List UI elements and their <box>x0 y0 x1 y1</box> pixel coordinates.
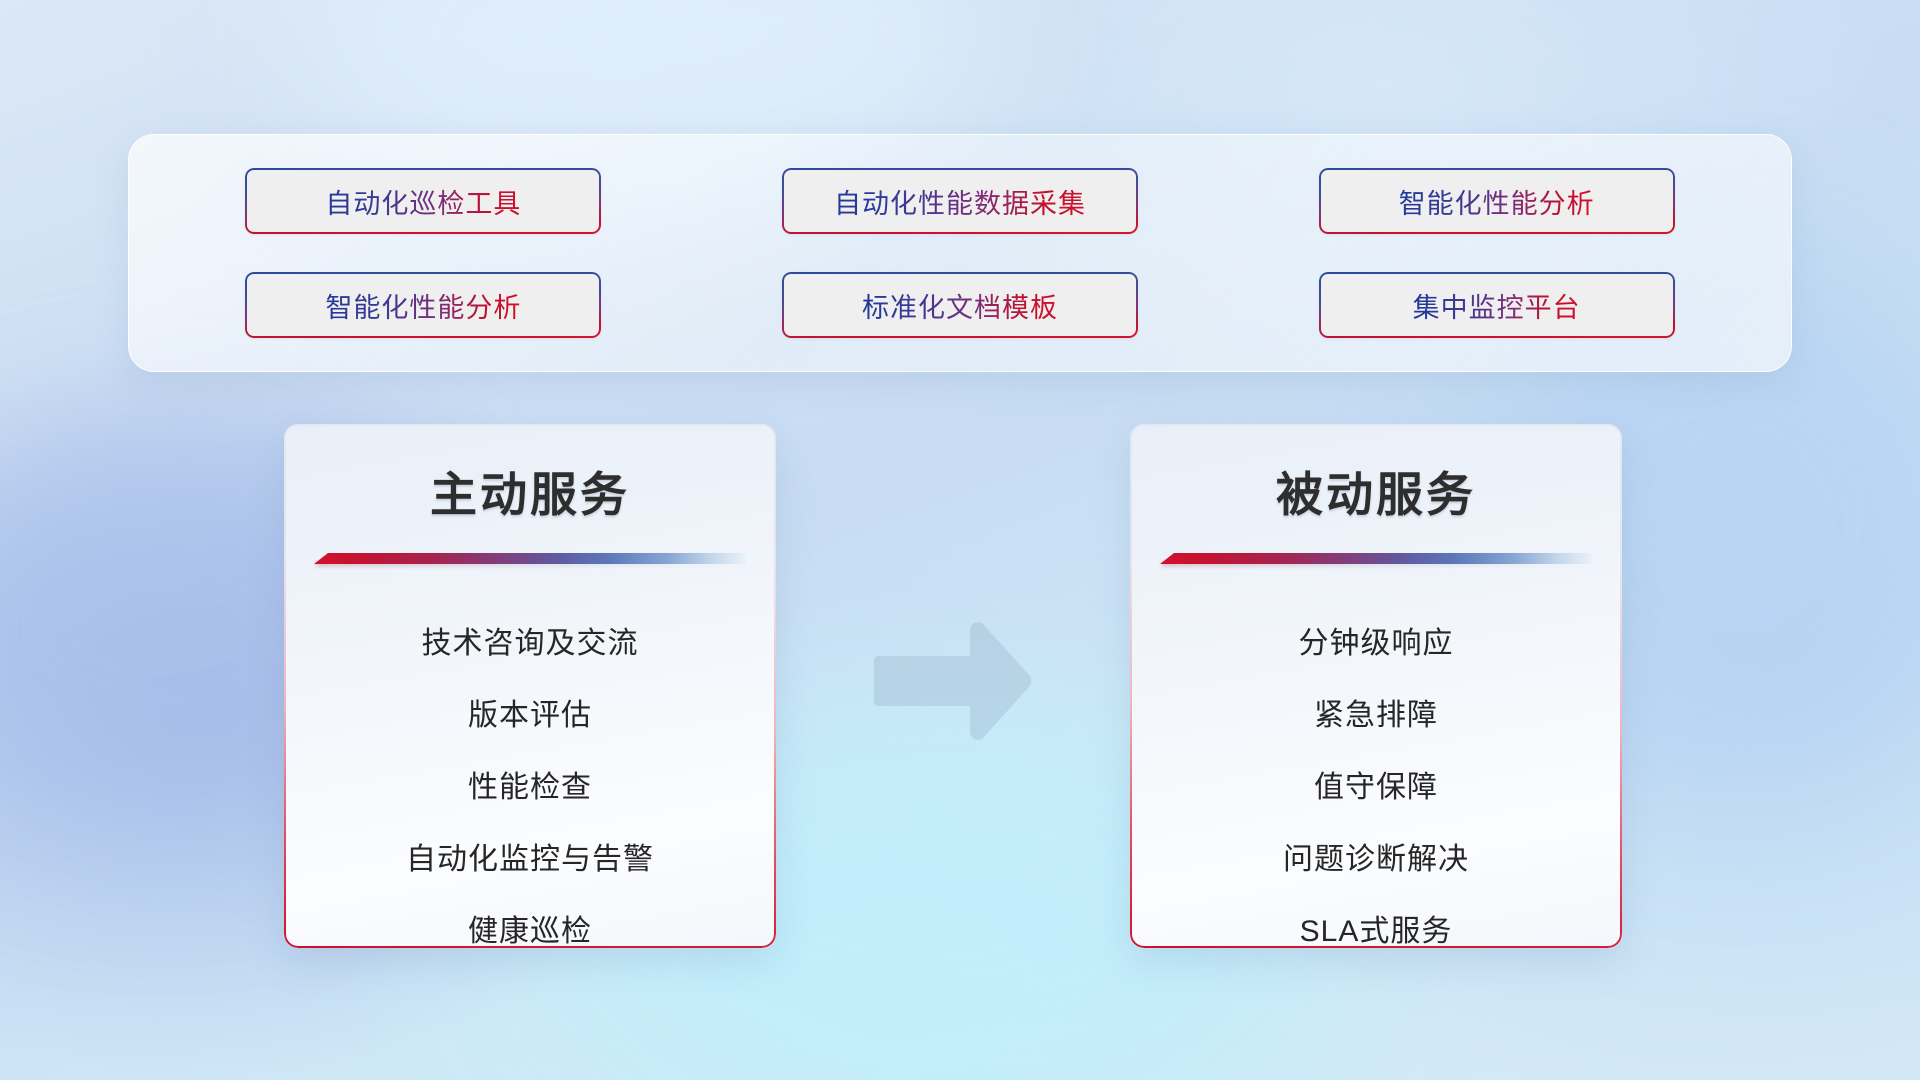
list-item[interactable]: 值守保障 <box>1130 752 1622 824</box>
capability-pill-5[interactable]: 标准化文档模板 <box>782 272 1138 338</box>
list-item[interactable]: 技术咨询及交流 <box>284 608 776 680</box>
card-divider-bar <box>1160 553 1592 564</box>
capability-pill-label: 标准化文档模板 <box>862 286 1058 325</box>
capability-panel: 自动化巡检工具 自动化性能数据采集 智能化性能分析 智能化性能分析 标准化文档模… <box>128 134 1792 372</box>
capability-pill-1[interactable]: 自动化巡检工具 <box>245 168 601 234</box>
capability-pill-6[interactable]: 集中监控平台 <box>1319 272 1675 338</box>
list-item[interactable]: 性能检查 <box>284 752 776 824</box>
capability-pill-label: 自动化性能数据采集 <box>834 182 1086 221</box>
service-card-active[interactable]: 主动服务 技术咨询及交流 版本评估 性能检查 自动化监控与告警 健康巡检 <box>284 424 776 948</box>
capability-pill-label: 智能化性能分析 <box>1399 182 1595 221</box>
card-divider <box>1160 553 1592 564</box>
card-divider <box>314 553 746 564</box>
capability-pill-label: 智能化性能分析 <box>325 286 521 325</box>
list-item[interactable]: 健康巡检 <box>284 896 776 948</box>
service-card-passive[interactable]: 被动服务 分钟级响应 紧急排障 值守保障 问题诊断解决 SLA式服务 <box>1130 424 1622 948</box>
capability-pill-3[interactable]: 智能化性能分析 <box>1319 168 1675 234</box>
list-item[interactable]: 紧急排障 <box>1130 680 1622 752</box>
card-title: 被动服务 <box>1130 456 1622 525</box>
list-item[interactable]: SLA式服务 <box>1130 896 1622 948</box>
capability-pill-4[interactable]: 智能化性能分析 <box>245 272 601 338</box>
card-title: 主动服务 <box>284 456 776 525</box>
capability-pill-label: 自动化巡检工具 <box>325 182 521 221</box>
list-item[interactable]: 版本评估 <box>284 680 776 752</box>
list-item[interactable]: 问题诊断解决 <box>1130 824 1622 896</box>
list-item[interactable]: 自动化监控与告警 <box>284 824 776 896</box>
list-item[interactable]: 分钟级响应 <box>1130 608 1622 680</box>
service-item-list: 分钟级响应 紧急排障 值守保障 问题诊断解决 SLA式服务 <box>1130 608 1622 948</box>
capability-pill-label: 集中监控平台 <box>1413 286 1581 325</box>
service-item-list: 技术咨询及交流 版本评估 性能检查 自动化监控与告警 健康巡检 <box>284 608 776 948</box>
card-divider-bar <box>314 553 746 564</box>
capability-pill-2[interactable]: 自动化性能数据采集 <box>782 168 1138 234</box>
slide-canvas: 自动化巡检工具 自动化性能数据采集 智能化性能分析 智能化性能分析 标准化文档模… <box>0 0 1920 1080</box>
right-arrow-icon <box>872 622 1032 740</box>
